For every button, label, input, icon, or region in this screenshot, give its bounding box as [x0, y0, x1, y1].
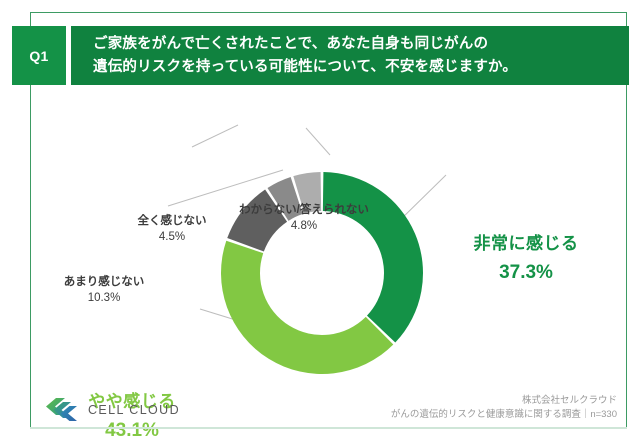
callout-amari-kanjinai: あまり感じない 10.3%	[30, 274, 178, 307]
question-number-label: Q1	[29, 48, 48, 64]
brand-name-text: CELL CLOUD	[88, 403, 180, 417]
leader-line-wakaranai	[306, 128, 330, 155]
brand-lockup: CELL CLOUD	[44, 397, 180, 423]
callout-value: 4.8%	[218, 218, 390, 234]
question-text-box: ご家族をがんで亡くされたことで、あなた自身も同じがんの 遺伝的リスクを持っている…	[71, 26, 629, 85]
donut-segment[interactable]	[323, 172, 423, 342]
question-line-2: 遺伝的リスクを持っている可能性について、不安を感じますか。	[93, 56, 629, 78]
footer-divider	[30, 427, 627, 429]
cell-cloud-logo-icon	[44, 397, 78, 423]
credit-block: 株式会社セルクラウド がんの遺伝的リスクと健康意識に関する調査｜n=330	[391, 394, 617, 423]
callout-wakaranai: わからない/答えられない 4.8%	[218, 202, 390, 235]
callout-hijou-ni-kanjiru: 非常に感じる 37.3%	[432, 232, 620, 287]
slide-canvas: Q1 ご家族をがんで亡くされたことで、あなた自身も同じがんの 遺伝的リスクを持っ…	[0, 0, 640, 443]
credit-survey: がんの遺伝的リスクと健康意識に関する調査｜n=330	[391, 408, 617, 422]
donut-segment[interactable]	[221, 241, 393, 374]
slide-footer: CELL CLOUD 株式会社セルクラウド がんの遺伝的リスクと健康意識に関する…	[30, 394, 627, 428]
callout-label: 非常に感じる	[432, 232, 620, 256]
callout-value: 37.3%	[432, 260, 620, 287]
question-number-badge: Q1	[12, 26, 66, 85]
callout-label: わからない/答えられない	[218, 202, 390, 218]
callout-value: 10.3%	[30, 290, 178, 306]
question-header: Q1 ご家族をがんで亡くされたことで、あなた自身も同じがんの 遺伝的リスクを持っ…	[12, 26, 629, 85]
leader-line-zenzen	[192, 125, 238, 147]
question-line-1: ご家族をがんで亡くされたことで、あなた自身も同じがんの	[93, 33, 629, 55]
callout-label: あまり感じない	[30, 274, 178, 290]
donut-chart-area: 全く感じない 4.5% あまり感じない 10.3% わからない/答えられない 4…	[0, 95, 640, 390]
credit-company: 株式会社セルクラウド	[391, 394, 617, 408]
